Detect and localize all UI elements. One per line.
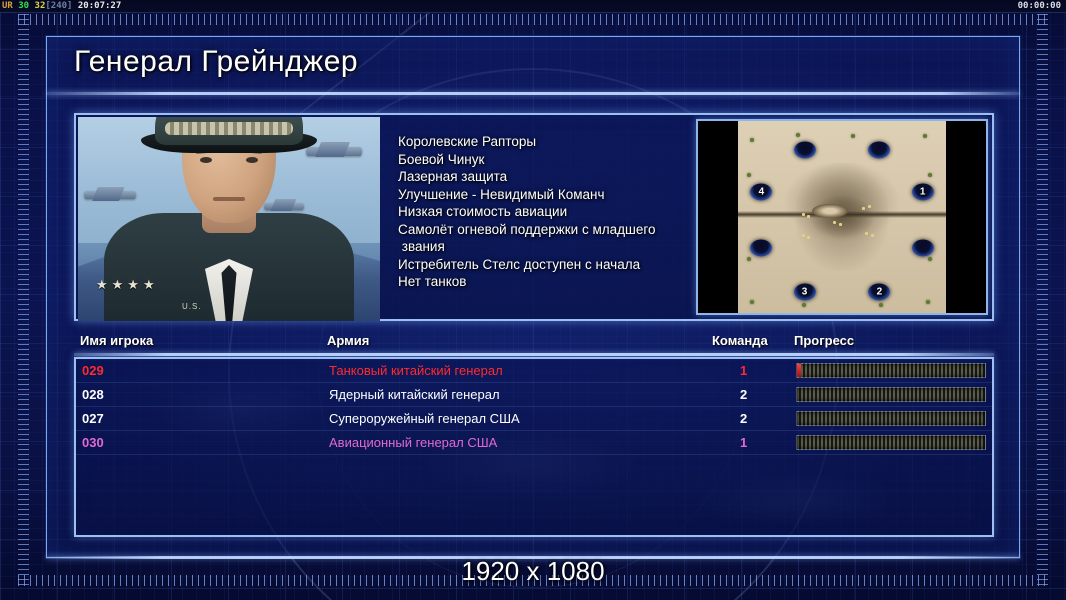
player-table-body: 029Танковый китайский генерал1028Ядерный… [76,359,992,455]
ruler-ticks-left [18,14,29,586]
cell-player-name: 030 [82,435,104,450]
portrait-eye-left [200,157,212,163]
map-resource-icon [833,221,836,224]
general-portrait: ★★★★ U.S. [78,117,380,321]
ability-item: Боевой Чинук [398,151,696,169]
title-zone: Генерал Грейнджер [47,37,1019,93]
status-bracket-value: [240] [45,1,72,11]
progress-bar [796,435,986,450]
player-table: 029Танковый китайский генерал1028Ядерный… [74,357,994,537]
column-header-progress: Прогресс [794,333,854,348]
map-preview[interactable]: 1234 [696,119,988,315]
cell-team: 2 [740,411,747,426]
title-divider [47,92,1019,95]
map-tree-icon [926,300,930,304]
map-start-position [794,141,816,158]
player-table-header: Имя игрока Армия Команда Прогресс [74,333,994,353]
map-resource-icon [839,223,842,226]
table-row[interactable]: 029Танковый китайский генерал1 [76,359,992,383]
ability-item: Самолёт огневой поддержки с младшего [398,221,696,239]
cell-army: Супероружейный генерал США [329,411,520,426]
cell-player-name: 028 [82,387,104,402]
ability-list: Королевские Рапторы Боевой Чинук Лазерна… [380,115,696,319]
cell-team: 1 [740,435,747,450]
cell-army: Ядерный китайский генерал [329,387,500,402]
progress-bar [796,363,986,378]
map-tree-icon [796,133,800,137]
table-row[interactable]: 030Авиационный генерал США1 [76,431,992,455]
map-start-position [912,239,934,256]
status-value-2: 32 [35,1,46,11]
ability-item: звания [398,238,696,256]
column-header-name: Имя игрока [80,333,153,348]
status-left: UR 30 32[240] 20:07:27 [2,1,121,11]
status-ur-label: UR [2,1,13,11]
map-resource-icon [871,234,874,237]
cell-army: Танковый китайский генерал [329,363,503,378]
page-title: Генерал Грейнджер [74,45,358,79]
map-start-position: 1 [912,184,934,201]
header-divider [74,353,994,356]
uniform-us-label: U.S. [182,302,202,311]
map-start-position [750,239,772,256]
status-value-1: 30 [18,1,29,11]
cell-player-name: 029 [82,363,104,378]
main-panel: Генерал Грейнджер [46,36,1020,558]
table-row[interactable]: 027Супероружейный генерал США2 [76,407,992,431]
ruler-ticks-right [1037,14,1048,586]
status-right-clock: 00:00:00 [1018,1,1061,11]
table-row[interactable]: 028Ядерный китайский генерал2 [76,383,992,407]
cell-team: 1 [740,363,747,378]
ability-item: Улучшение - Невидимый Команч [398,186,696,204]
map-start-position [868,141,890,158]
portrait-mouth [213,197,245,201]
map-center-feature [812,204,848,218]
ruler-ticks-top [18,14,1048,25]
progress-bar-fill [797,364,801,377]
rank-stars-icon: ★★★★ [96,277,159,293]
ability-item: Нет танков [398,273,696,291]
aircraft-icon-3 [264,203,304,210]
general-info-box: ★★★★ U.S. Королевские Рапторы Боевой Чин… [74,113,994,321]
ability-item: Низкая стоимость авиации [398,203,696,221]
ability-item: Лазерная защита [398,168,696,186]
portrait-cap-scrambled-eggs [165,122,293,135]
ability-item: Истребитель Стелс доступен с начала [398,256,696,274]
cell-player-name: 027 [82,411,104,426]
game-screen: UR 30 32[240] 20:07:27 00:00:00 Генерал … [0,0,1066,600]
status-clock: 20:07:27 [78,1,121,11]
portrait-eye-right [246,157,258,163]
aircraft-icon-2 [306,147,362,156]
aircraft-icon-1 [84,191,136,199]
map-start-position: 2 [868,283,890,300]
progress-bar [796,411,986,426]
progress-bar [796,387,986,402]
cell-team: 2 [740,387,747,402]
map-start-position: 3 [794,283,816,300]
ability-item: Королевские Рапторы [398,133,696,151]
map-start-position: 4 [750,184,772,201]
map-tree-icon [747,173,751,177]
cell-army: Авиационный генерал США [329,435,497,450]
column-header-army: Армия [327,333,369,348]
resolution-label: 1920 x 1080 [0,556,1066,587]
map-resource-icon [802,234,805,237]
map-resource-icon [802,213,805,216]
column-header-team: Команда [712,333,768,348]
map-tree-icon [750,300,754,304]
top-status-bar: UR 30 32[240] 20:07:27 00:00:00 [0,0,1066,13]
